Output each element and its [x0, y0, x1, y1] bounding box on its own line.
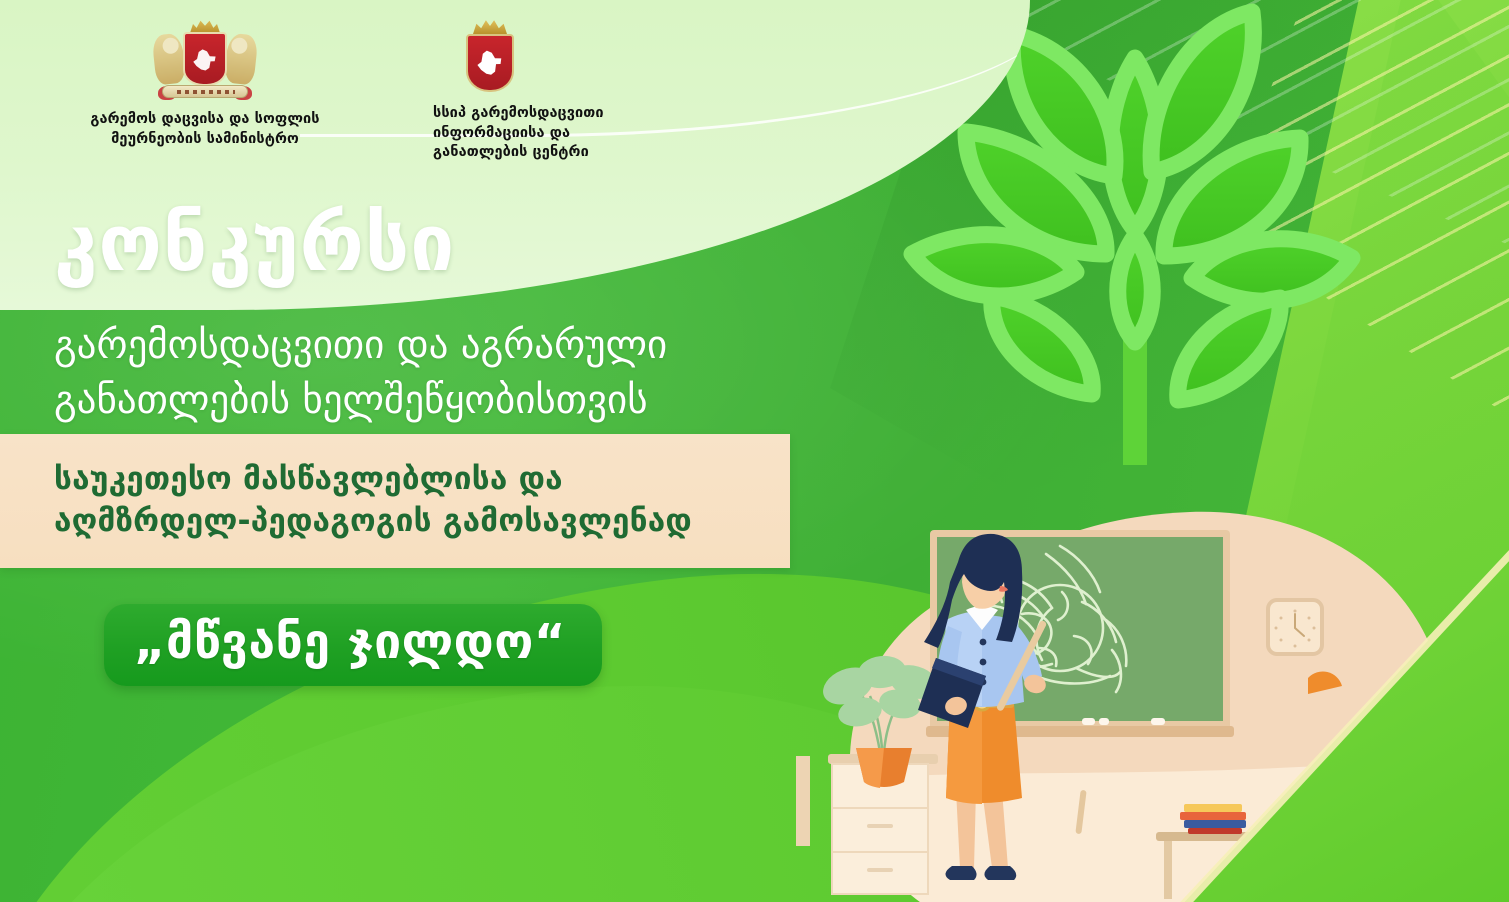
georgia-coat-of-arms-icon: [146, 18, 264, 102]
highlight-banner: საუკეთესო მასწავლებლისა დააღმზრდელ-პედაგ…: [0, 434, 790, 568]
wall-clock: [1268, 600, 1322, 654]
award-name-text: „მწვანე ჯილდო“: [134, 618, 566, 666]
page-title: კონკურსი: [54, 205, 455, 283]
organization-name-ministry: გარემოს დაცვისა და სოფლისმეურნეობის სამი…: [90, 110, 319, 149]
classroom-illustration: [760, 490, 1509, 902]
highlight-banner-text: საუკეთესო მასწავლებლისა დააღმზრდელ-პედაგ…: [0, 459, 692, 542]
page-subtitle: გარემოსდაცვითი და აგრარულიგანათლების ხელ…: [54, 318, 667, 429]
poster-root: გარემოს დაცვისა და სოფლისმეურნეობის სამი…: [0, 0, 1509, 902]
header-logos-row: გარემოს დაცვისა და სოფლისმეურნეობის სამი…: [0, 0, 1030, 175]
ssip-shield-icon: [459, 18, 521, 96]
organization-center: სსიპ გარემოსდაცვითიინფორმაციისა დაგანათლ…: [433, 18, 733, 163]
organization-name-center: სსიპ გარემოსდაცვითიინფორმაციისა დაგანათლ…: [433, 104, 604, 163]
organization-ministry: გარემოს დაცვისა და სოფლისმეურნეობის სამი…: [55, 18, 355, 149]
award-name-badge: „მწვანე ჯილდო“: [104, 604, 602, 686]
